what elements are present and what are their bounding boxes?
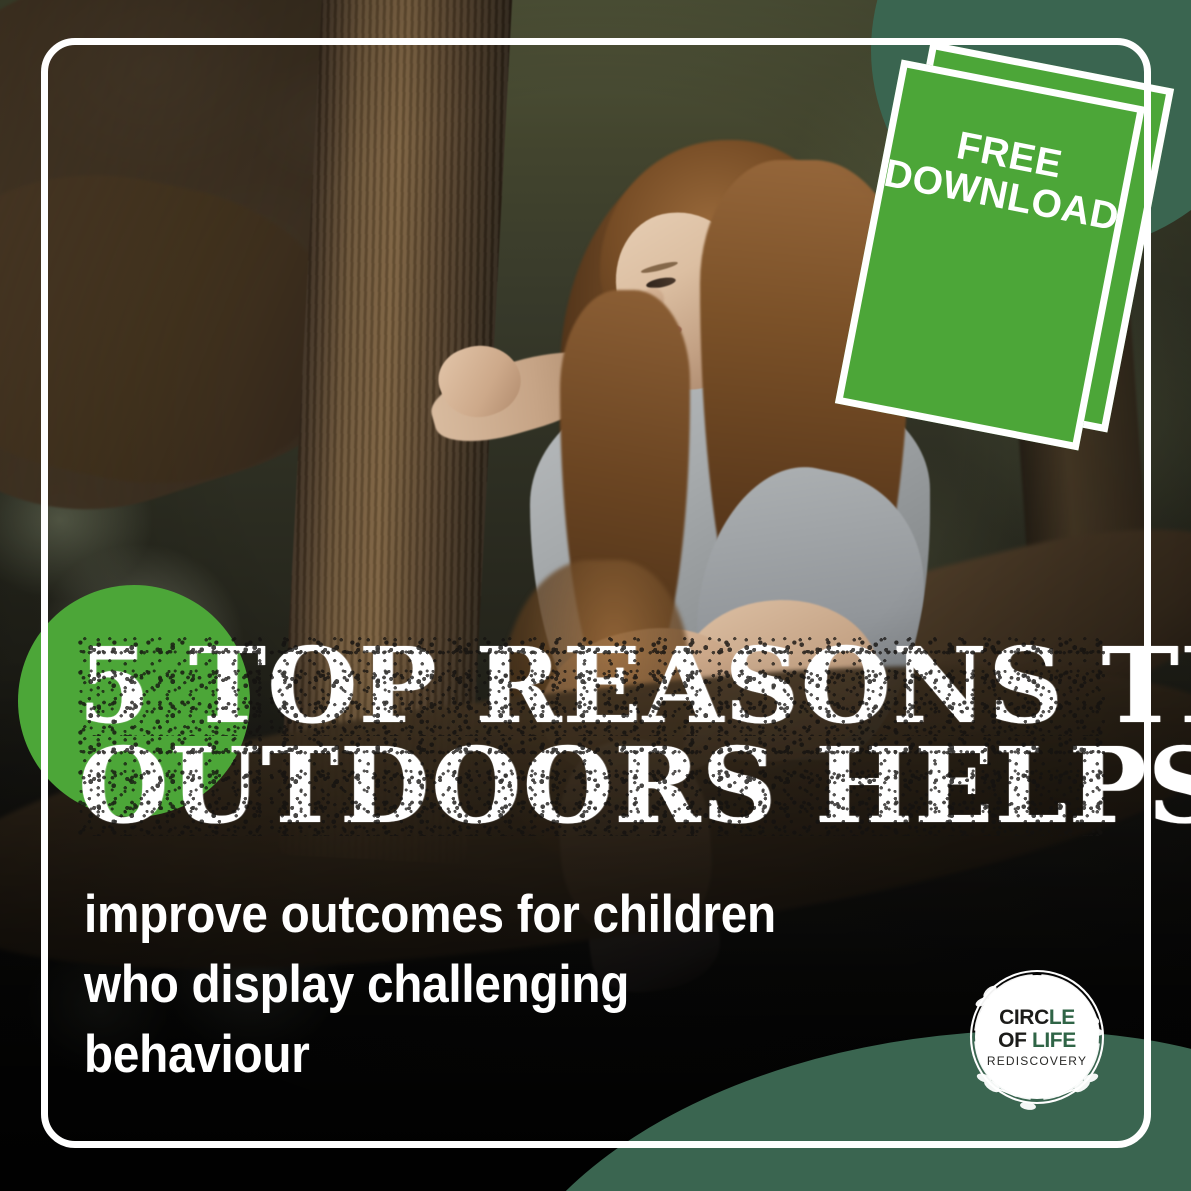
subheading-line-1: improve outcomes for children <box>84 880 930 950</box>
headline: 5 TOP REASONS THE OUTDOORS HELPS <box>78 636 1108 836</box>
subheading-line-3: behaviour <box>84 1020 930 1090</box>
logo-tagline: REDISCOVERY <box>987 1055 1087 1067</box>
logo-line-of-life: OF LIFE <box>998 1030 1076 1051</box>
poster-canvas: FREE DOWNLOAD 5 TOP REASONS THE OUTDOORS… <box>0 0 1191 1191</box>
logo-of-dark: OF <box>998 1029 1032 1052</box>
logo-text: CIRCLE OF LIFE REDISCOVERY <box>975 975 1099 1099</box>
logo-circ-dark: CIRC <box>999 1006 1049 1029</box>
logo-le-green: LE <box>1049 1006 1075 1029</box>
subheading: improve outcomes for children who displa… <box>84 880 930 1090</box>
logo-line-circle: CIRCLE <box>999 1007 1075 1028</box>
logo-life-green: LIFE <box>1032 1029 1076 1052</box>
circle-of-life-logo[interactable]: CIRCLE OF LIFE REDISCOVERY <box>962 962 1112 1112</box>
headline-line-2: OUTDOORS HELPS <box>78 736 1108 836</box>
subheading-line-2: who display challenging <box>84 950 930 1020</box>
headline-line-1: 5 TOP REASONS THE <box>78 636 1108 736</box>
badge-label: FREE DOWNLOAD <box>881 113 1130 240</box>
